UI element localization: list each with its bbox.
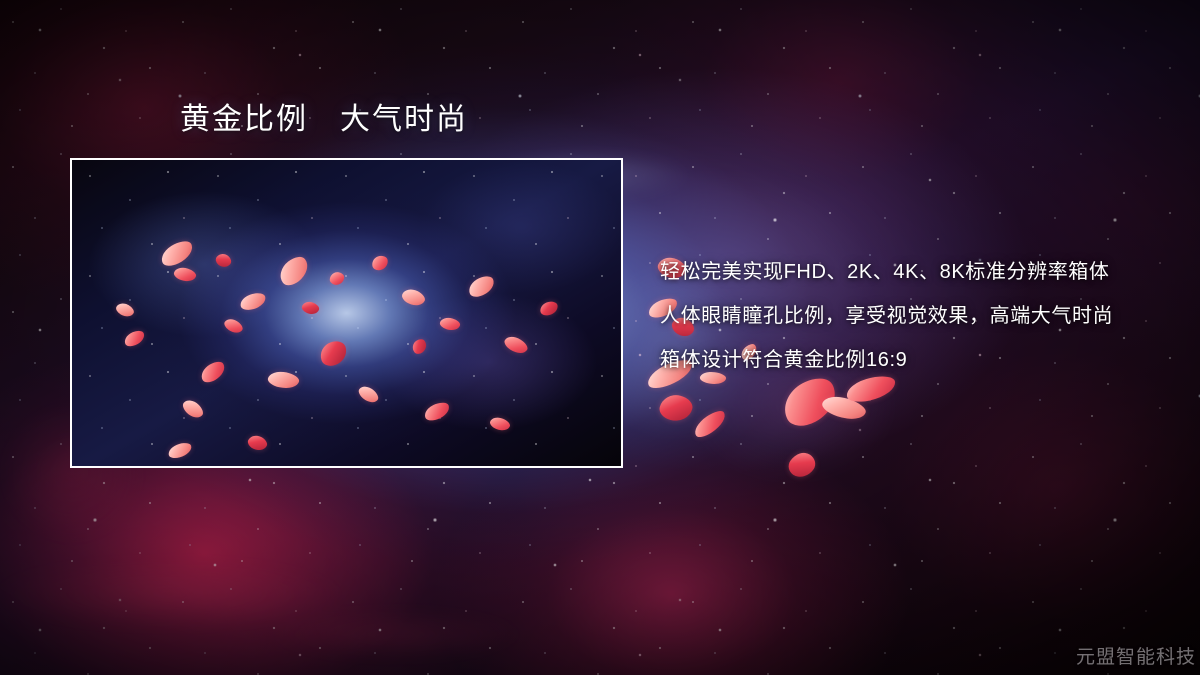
presentation-slide: 黄金比例 大气时尚 轻松完美实现FHD、2K、4K、8K标准分辨率箱体 人体眼睛… — [0, 0, 1200, 675]
framed-image-starfield — [72, 160, 621, 466]
watermark-text: 元盟智能科技 — [1076, 642, 1196, 669]
body-text-line: 轻松完美实现FHD、2K、4K、8K标准分辨率箱体 — [660, 258, 1180, 302]
body-text-block: 轻松完美实现FHD、2K、4K、8K标准分辨率箱体 人体眼睛瞳孔比例，享受视觉效… — [660, 258, 1180, 390]
page-title: 黄金比例 大气时尚 — [180, 102, 468, 137]
body-text-line: 箱体设计符合黄金比例16:9 — [660, 346, 1180, 390]
body-text-line: 人体眼睛瞳孔比例，享受视觉效果，高端大气时尚 — [660, 302, 1180, 346]
framed-image — [70, 158, 623, 468]
